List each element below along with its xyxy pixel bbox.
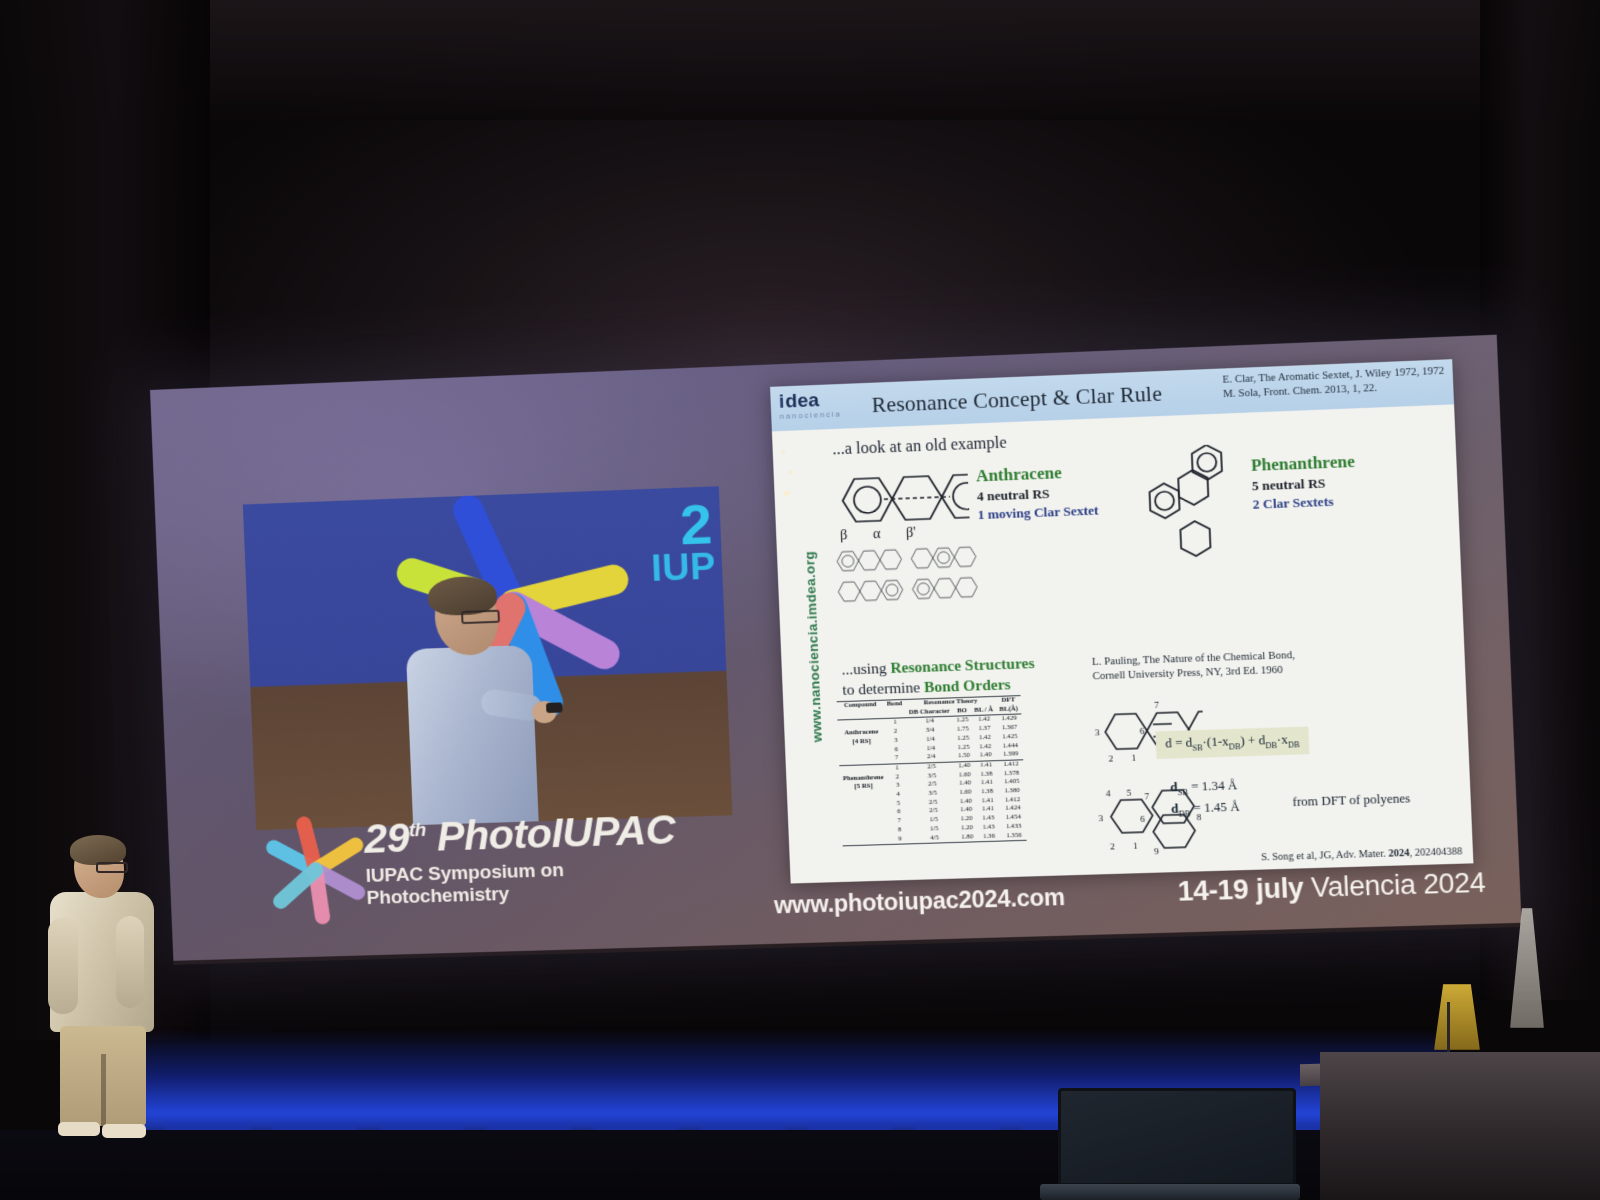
phenanthrene-neutral-rs: 5 neutral RS <box>1252 474 1356 494</box>
table-body: 11/41.251.421.429Anthracene23/41.751.371… <box>837 714 1026 846</box>
cell-bond: 9 <box>889 835 911 845</box>
section2-heading: ...using Resonance Structures to determi… <box>841 654 1036 702</box>
equation-parameters: dSB = 1.34 Å dDB = 1.45 Å <box>1170 776 1240 821</box>
phenanthrene-name: Phenanthrene <box>1251 452 1356 476</box>
phenanthrene-structure <box>1133 443 1253 575</box>
svg-text:1: 1 <box>1133 841 1138 851</box>
conference-dates: 14-19 july <box>1177 872 1304 906</box>
laptop-keyboard[interactable] <box>1040 1184 1300 1200</box>
label-alpha: α <box>873 527 881 544</box>
podium <box>1320 1052 1600 1200</box>
speaker-on-stage <box>44 840 164 1140</box>
presenter-laptop <box>1040 1088 1300 1200</box>
anthracene-resonance-structures <box>832 538 1031 613</box>
cite-bot-post: , 202404388 <box>1409 846 1462 859</box>
anthracene-structure-icon <box>833 464 970 532</box>
cell-compound <box>842 835 889 846</box>
svg-text:2: 2 <box>1110 841 1115 851</box>
speaker-glasses-icon <box>96 862 128 873</box>
presentation-slide: idea nanociencia Resonance Concept & Cla… <box>770 359 1473 883</box>
cell-bo: 1.80 <box>958 833 977 843</box>
conference-location-year: Valencia 2024 <box>1303 867 1486 903</box>
th-bl-dft: BL(Å) <box>996 705 1021 715</box>
cell-bl-rt: 1.36 <box>976 832 1002 842</box>
conference-name: PhotoIUPAC <box>425 806 676 860</box>
sec2-l1-pre: ...using <box>841 661 891 679</box>
photoiupac-pinwheel-icon <box>263 818 353 907</box>
cell-db-character: 4/5 <box>911 833 959 844</box>
phenanthrene-clar-sextets: 2 Clar Sextets <box>1252 493 1356 513</box>
pip-speaker-figure <box>397 580 539 830</box>
svg-text:6: 6 <box>1139 726 1145 736</box>
phenanthrene-structure-icon <box>1133 443 1253 570</box>
sec2-l2-pre: to determine <box>842 680 924 699</box>
sec2-l1-b2: Structures <box>965 656 1035 675</box>
conference-ordinal-suffix: th <box>408 820 426 842</box>
anthracene-name: Anthracene <box>976 462 1098 487</box>
svg-text:4: 4 <box>1106 788 1112 798</box>
cite-bot-year: 2024 <box>1388 848 1410 860</box>
anthracene-neutral-rs: 4 neutral RS <box>977 484 1099 505</box>
imdea-logo-dea: dea <box>785 390 820 413</box>
bond-length-equation: d = dSB·(1-xDB) + dDB·xDB <box>1155 726 1309 758</box>
slide-citation-bottom: S. Song et al, JG, Adv. Mater. 2024, 202… <box>1261 846 1463 863</box>
sec2-l1-b1: Resonance <box>890 658 961 677</box>
svg-text:5: 5 <box>1126 787 1132 797</box>
presenter-clicker <box>546 702 563 713</box>
ceiling-shadow <box>0 0 1600 120</box>
anthracene-clar-sextet: 1 moving Clar Sextet <box>977 502 1099 523</box>
bond-order-table: Compound Bond Resonance Theory DFT DB Ch… <box>837 695 1027 847</box>
imdea-vertical-url: www.nanociencia.imdea.org <box>800 530 825 764</box>
glasses-icon <box>461 610 500 624</box>
auditorium-photo: 2 IUP idea nanociencia Resonance Concept… <box>0 0 1600 1200</box>
svg-text:7: 7 <box>1144 791 1150 801</box>
anthracene-block: β α β' <box>833 464 970 537</box>
equation-note: from DFT of polyenes <box>1292 791 1410 810</box>
projection-screen: 2 IUP idea nanociencia Resonance Concept… <box>150 335 1522 965</box>
svg-text:9: 9 <box>1154 846 1160 856</box>
conference-title: 29th PhotoIUPAC <box>363 806 676 863</box>
anthracene-labels: Anthracene 4 neutral RS 1 moving Clar Se… <box>976 462 1099 524</box>
decorative-image-strip <box>776 435 800 519</box>
svg-text:3: 3 <box>1095 727 1101 737</box>
imdea-logo: idea nanociencia <box>779 390 842 421</box>
svg-text:3: 3 <box>1098 813 1104 823</box>
d-sb-row: dSB = 1.34 Å <box>1170 776 1239 800</box>
sec2-l2-b: Bond Orders <box>924 677 1011 696</box>
th-bl-rt: BL / Å <box>971 706 997 716</box>
pip-overlay-text: IUP <box>650 545 716 590</box>
camera-feed-pip: 2 IUP <box>243 486 733 830</box>
laptop-screen[interactable] <box>1058 1088 1296 1186</box>
conference-ordinal: 29 <box>363 814 410 862</box>
phenanthrene-labels: Phenanthrene 5 neutral RS 2 Clar Sextets <box>1251 452 1357 513</box>
cite-bot-pre: S. Song et al, JG, Adv. Mater. <box>1261 848 1389 863</box>
pauling-citation: L. Pauling, The Nature of the Chemical B… <box>1092 649 1296 685</box>
svg-text:2: 2 <box>1108 753 1113 763</box>
d-db-value: = 1.45 Å <box>1193 799 1240 815</box>
resonance-structures-icon <box>832 538 1031 608</box>
d-db-row: dDB = 1.45 Å <box>1171 797 1240 820</box>
conference-branding: 29th PhotoIUPAC IUPAC Symposium on Photo… <box>263 805 702 905</box>
svg-text:1: 1 <box>1131 753 1136 763</box>
cell-bl-dft: 1.356 <box>1001 831 1026 841</box>
label-beta: β <box>840 528 848 545</box>
svg-text:7: 7 <box>1154 700 1160 710</box>
slide-lede-text: ...a look at an old example <box>832 434 1007 459</box>
th-bond: Bond <box>883 699 905 709</box>
svg-text:6: 6 <box>1140 814 1146 824</box>
d-sb-value: = 1.34 Å <box>1191 778 1238 794</box>
label-beta-prime: β' <box>906 526 917 543</box>
